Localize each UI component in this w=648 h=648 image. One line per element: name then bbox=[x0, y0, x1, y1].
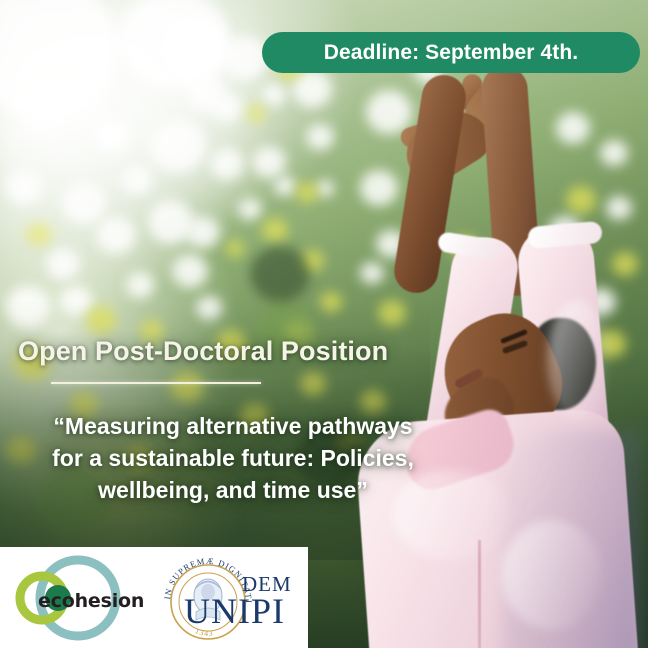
subtitle-line: wellbeing, and time use” bbox=[18, 474, 448, 506]
sleeve-cuff-right bbox=[527, 221, 603, 249]
woman-stretching-photo-subject bbox=[352, 0, 648, 648]
subtitle-line: “Measuring alternative pathways bbox=[18, 410, 448, 442]
poster-canvas: Deadline: September 4th. Open Post-Docto… bbox=[0, 0, 648, 648]
title-divider-rule bbox=[51, 382, 261, 384]
ecohesion-wordmark: ecohesion bbox=[38, 590, 144, 612]
logo-bar: ecohesion IN SUPREMÆ DIGNITATIS bbox=[0, 547, 308, 648]
position-subtitle: “Measuring alternative pathways for a su… bbox=[18, 410, 448, 506]
deadline-label: Deadline: September 4th. bbox=[324, 41, 578, 65]
deadline-banner: Deadline: September 4th. bbox=[262, 32, 640, 73]
fabric-fold bbox=[502, 520, 602, 630]
jacket-zipper bbox=[478, 540, 481, 648]
ecohesion-logo: ecohesion bbox=[6, 554, 156, 642]
page-title: Open Post-Doctoral Position bbox=[18, 336, 432, 367]
subtitle-line: for a sustainable future: Policies, bbox=[18, 442, 448, 474]
unipi-university-label: UNIPI bbox=[184, 590, 285, 632]
unipi-logo: IN SUPREMÆ DIGNITATIS 1343 DEM UNIPI bbox=[156, 552, 302, 644]
headline-block: Open Post-Doctoral Position “Measuring a… bbox=[18, 336, 432, 367]
fabric-fold bbox=[548, 300, 608, 420]
